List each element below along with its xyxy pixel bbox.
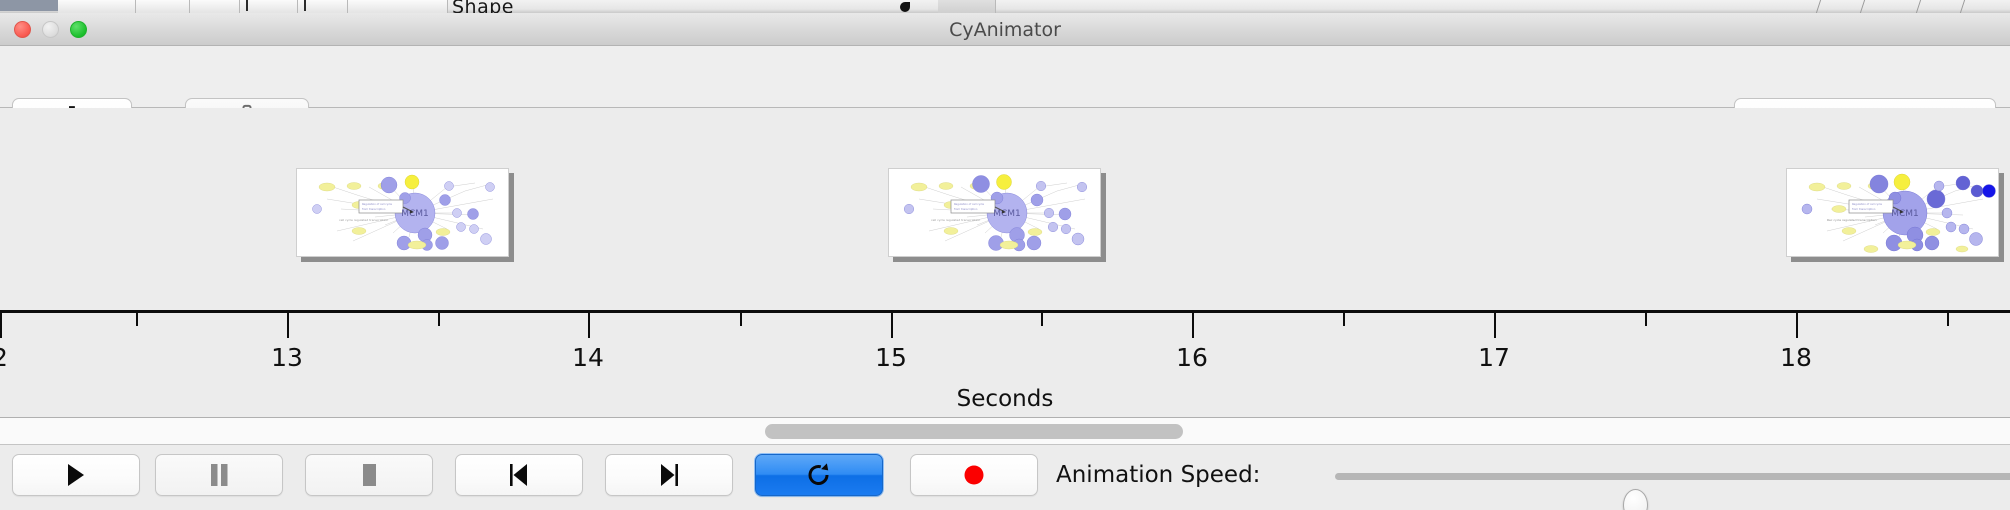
record-icon <box>961 461 987 489</box>
frame-toolbar: ✚ Clear All Frames <box>0 46 2010 108</box>
svg-text:Regulation of cell cycle: Regulation of cell cycle <box>1852 202 1882 206</box>
timeline-frame[interactable]: Regulation of cell cycle from transcript… <box>888 168 1106 261</box>
axis-tick-label: 2 <box>0 343 8 372</box>
background-tick <box>246 0 248 11</box>
svg-text:from transcription: from transcription <box>362 207 386 211</box>
axis-tick-label: 18 <box>1780 343 1812 372</box>
stop-icon <box>357 461 381 489</box>
background-tick <box>304 0 306 11</box>
frame-thumbnail: Regulation of cell cycle from transcript… <box>296 168 509 257</box>
pause-icon <box>207 461 231 489</box>
background-divider <box>1916 0 1921 13</box>
animation-speed-slider[interactable] <box>1335 473 2010 480</box>
background-divider <box>1960 0 1965 13</box>
axis-tick-minor <box>1947 313 1949 326</box>
loop-button[interactable] <box>755 454 883 496</box>
background-window-segment <box>58 0 136 13</box>
center-node-label: MCM1 <box>1891 209 1919 219</box>
animation-speed-slider-thumb[interactable] <box>1623 489 1648 510</box>
axis-tick-major <box>1494 313 1496 338</box>
svg-text:from transcription: from transcription <box>1852 207 1876 211</box>
axis-tick-label: 16 <box>1176 343 1208 372</box>
skip-backward-icon <box>506 461 532 489</box>
pause-button[interactable] <box>155 454 283 496</box>
network-graph-preview: Regulation of cell cycle from transcript… <box>297 169 509 257</box>
axis-tick-label: 15 <box>875 343 907 372</box>
svg-text:Rec cycle regulated transcript: Rec cycle regulated transcription <box>1827 218 1877 222</box>
axis-tick-major <box>891 313 893 338</box>
network-graph-preview: Regulation of cell cycle from transcript… <box>889 169 1101 257</box>
axis-tick-minor <box>438 313 440 326</box>
svg-text:Regulation of cell cycle: Regulation of cell cycle <box>954 202 984 206</box>
background-window-segment <box>938 0 996 13</box>
play-button[interactable] <box>12 454 140 496</box>
axis-tick-major <box>287 313 289 338</box>
window-titlebar: CyAnimator <box>0 13 2010 46</box>
center-node-label: MCM1 <box>993 209 1021 219</box>
axis-tick-minor <box>1041 313 1043 326</box>
play-icon <box>64 461 88 489</box>
background-window-segment <box>348 0 448 13</box>
background-window-segment <box>240 0 298 13</box>
background-window-clipped-label: Shape <box>452 0 514 13</box>
axis-tick-major <box>1796 313 1798 338</box>
axis-tick-label: 13 <box>271 343 303 372</box>
timeline-axis <box>0 310 2010 313</box>
axis-tick-minor <box>136 313 138 326</box>
background-blob <box>900 2 910 12</box>
axis-caption: Seconds <box>0 386 2010 412</box>
axis-tick-minor <box>740 313 742 326</box>
background-window-strip: Shape <box>0 0 2010 13</box>
svg-text:Regulation of cell cycle: Regulation of cell cycle <box>362 202 392 206</box>
axis-tick-label: 17 <box>1478 343 1510 372</box>
svg-text:cell cycle regulated transcrip: cell cycle regulated transcription <box>339 218 388 222</box>
axis-tick-major <box>1192 313 1194 338</box>
frame-thumbnail: Regulation of cell cycle from transcript… <box>888 168 1101 257</box>
stop-button[interactable] <box>305 454 433 496</box>
center-node-label: MCM1 <box>401 209 429 219</box>
axis-tick-label: 14 <box>572 343 604 372</box>
background-window-segment <box>190 0 240 13</box>
animation-speed-label: Animation Speed: <box>1056 462 1260 488</box>
timeline-frame[interactable]: Regulation of cell cycle from transcript… <box>1786 168 2004 261</box>
window-title: CyAnimator <box>0 19 2010 41</box>
cyanimator-window: Shape CyAnimator ✚ Clear All <box>0 0 2010 510</box>
frame-thumbnail: Regulation of cell cycle from transcript… <box>1786 168 1999 257</box>
skip-to-start-button[interactable] <box>455 454 583 496</box>
timeline-panel[interactable]: Regulation of cell cycle from transcript… <box>0 108 2010 418</box>
background-window-segment <box>136 0 190 13</box>
svg-text:from transcription: from transcription <box>954 207 978 211</box>
axis-tick-major <box>588 313 590 338</box>
skip-forward-icon <box>656 461 682 489</box>
record-button[interactable] <box>910 454 1038 496</box>
axis-tick-minor <box>1645 313 1647 326</box>
loop-icon <box>806 461 832 489</box>
background-divider <box>1860 0 1865 13</box>
timeline-scrollbar[interactable] <box>0 418 2010 445</box>
axis-tick-minor <box>1343 313 1345 326</box>
skip-to-end-button[interactable] <box>605 454 733 496</box>
timeline-frame[interactable]: Regulation of cell cycle from transcript… <box>296 168 514 261</box>
svg-text:cell cycle regulated transcrip: cell cycle regulated transcription <box>931 218 980 222</box>
timeline-scrollbar-thumb[interactable] <box>765 424 1183 439</box>
transport-bar: Animation Speed: <box>0 445 2010 510</box>
background-divider <box>1816 0 1821 13</box>
network-graph-preview: Regulation of cell cycle from transcript… <box>1787 169 1999 257</box>
background-window-dark-segment <box>0 0 58 11</box>
axis-tick-major <box>0 313 2 338</box>
